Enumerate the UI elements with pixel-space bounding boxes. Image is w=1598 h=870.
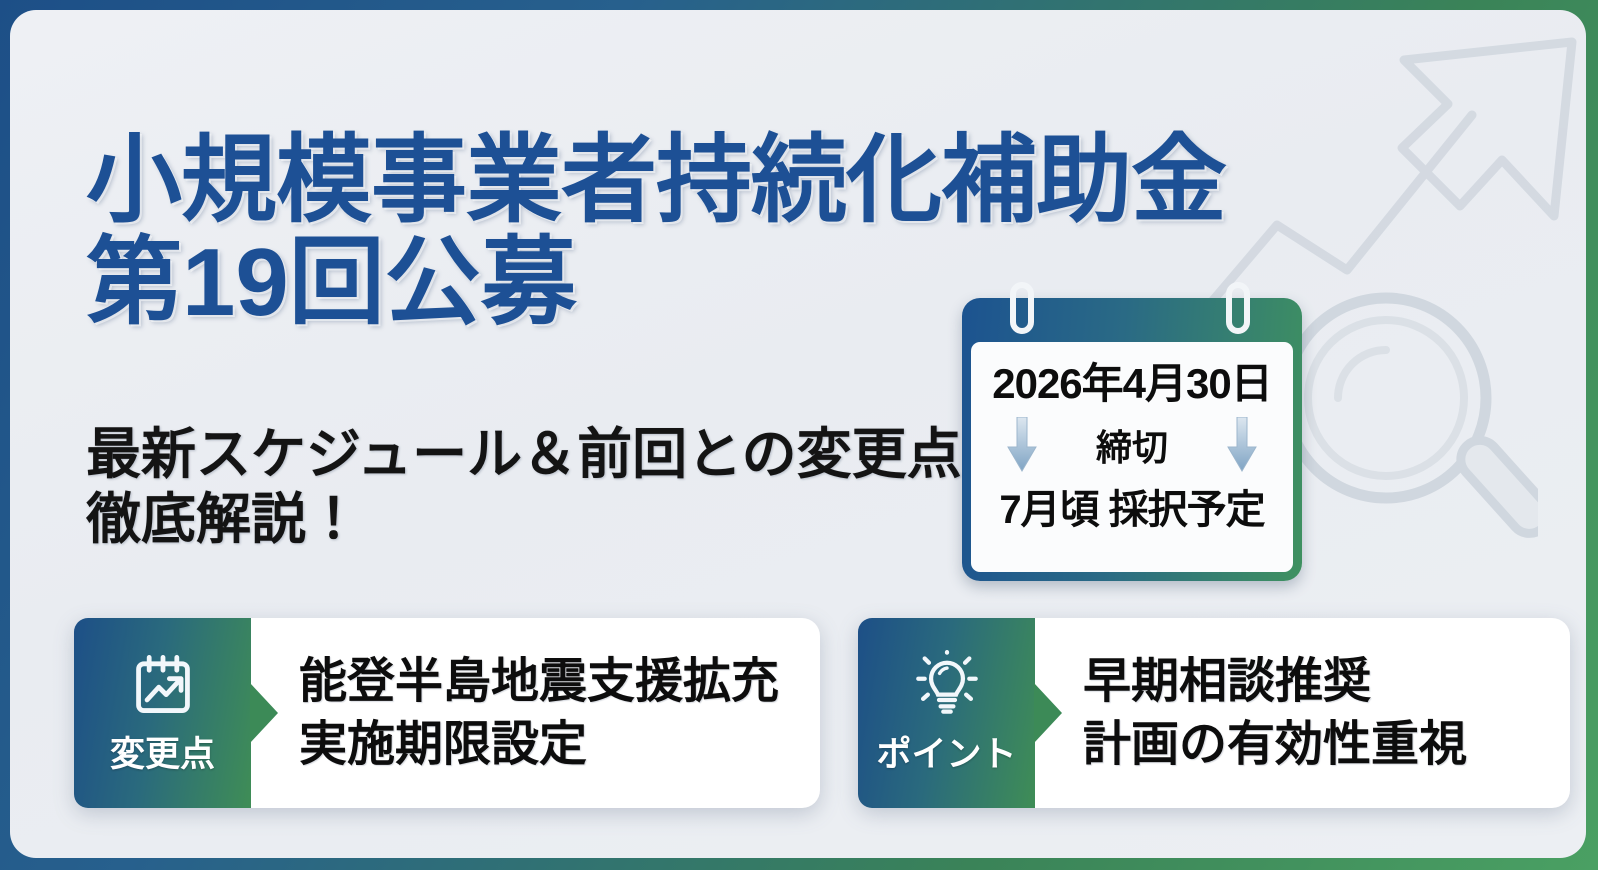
title-line-2: 第19回公募 (86, 232, 986, 334)
calendar-ring-right (1226, 282, 1250, 334)
calendar-trend-icon (129, 650, 197, 718)
deadline-label: 締切 (1096, 419, 1168, 471)
lightbulb-icon (913, 650, 981, 718)
calendar-ring-left (1010, 282, 1034, 334)
change-line-1: 能登半島地震支援拡充 (299, 651, 820, 712)
calendar-schedule-card: 2026年4月30日 締切 (962, 298, 1302, 581)
deadline-row: 締切 (971, 411, 1293, 479)
point-line-1: 早期相談推奨 (1083, 651, 1570, 712)
badge-point: ポイント (858, 618, 1035, 808)
badge-change: 変更点 (74, 618, 251, 808)
page-title: 小規模事業者持続化補助金 第19回公募 (86, 130, 986, 334)
info-card-change-body: 能登半島地震支援拡充 実施期限設定 (251, 618, 820, 808)
change-line-2: 実施期限設定 (299, 714, 820, 775)
adoption-schedule: 7月頃 採択予定 (999, 477, 1264, 535)
poster-canvas: 小規模事業者持続化補助金 第19回公募 最新スケジュール＆前回との変更点を 徹底… (10, 10, 1586, 858)
subtitle-line-1: 最新スケジュール＆前回との変更点を (86, 422, 986, 487)
deadline-date: 2026年4月30日 (992, 350, 1272, 411)
down-arrow-icon-right (1227, 417, 1257, 473)
point-line-2: 計画の有効性重視 (1083, 714, 1570, 775)
info-card-point: ポイント 早期相談推奨 計画の有効性重視 (858, 618, 1570, 808)
calendar-body: 2026年4月30日 締切 (971, 342, 1293, 572)
info-card-point-body: 早期相談推奨 計画の有効性重視 (1035, 618, 1570, 808)
title-line-1: 小規模事業者持続化補助金 (86, 130, 986, 232)
page-subtitle: 最新スケジュール＆前回との変更点を 徹底解説！ (86, 422, 986, 552)
badge-point-label: ポイント (876, 726, 1016, 777)
down-arrow-icon-left (1007, 417, 1037, 473)
badge-change-label: 変更点 (110, 726, 215, 777)
poster-frame: 小規模事業者持続化補助金 第19回公募 最新スケジュール＆前回との変更点を 徹底… (0, 0, 1598, 870)
magnifier-icon (1268, 280, 1538, 560)
info-card-change: 変更点 能登半島地震支援拡充 実施期限設定 (74, 618, 820, 808)
subtitle-line-2: 徹底解説！ (86, 487, 986, 552)
